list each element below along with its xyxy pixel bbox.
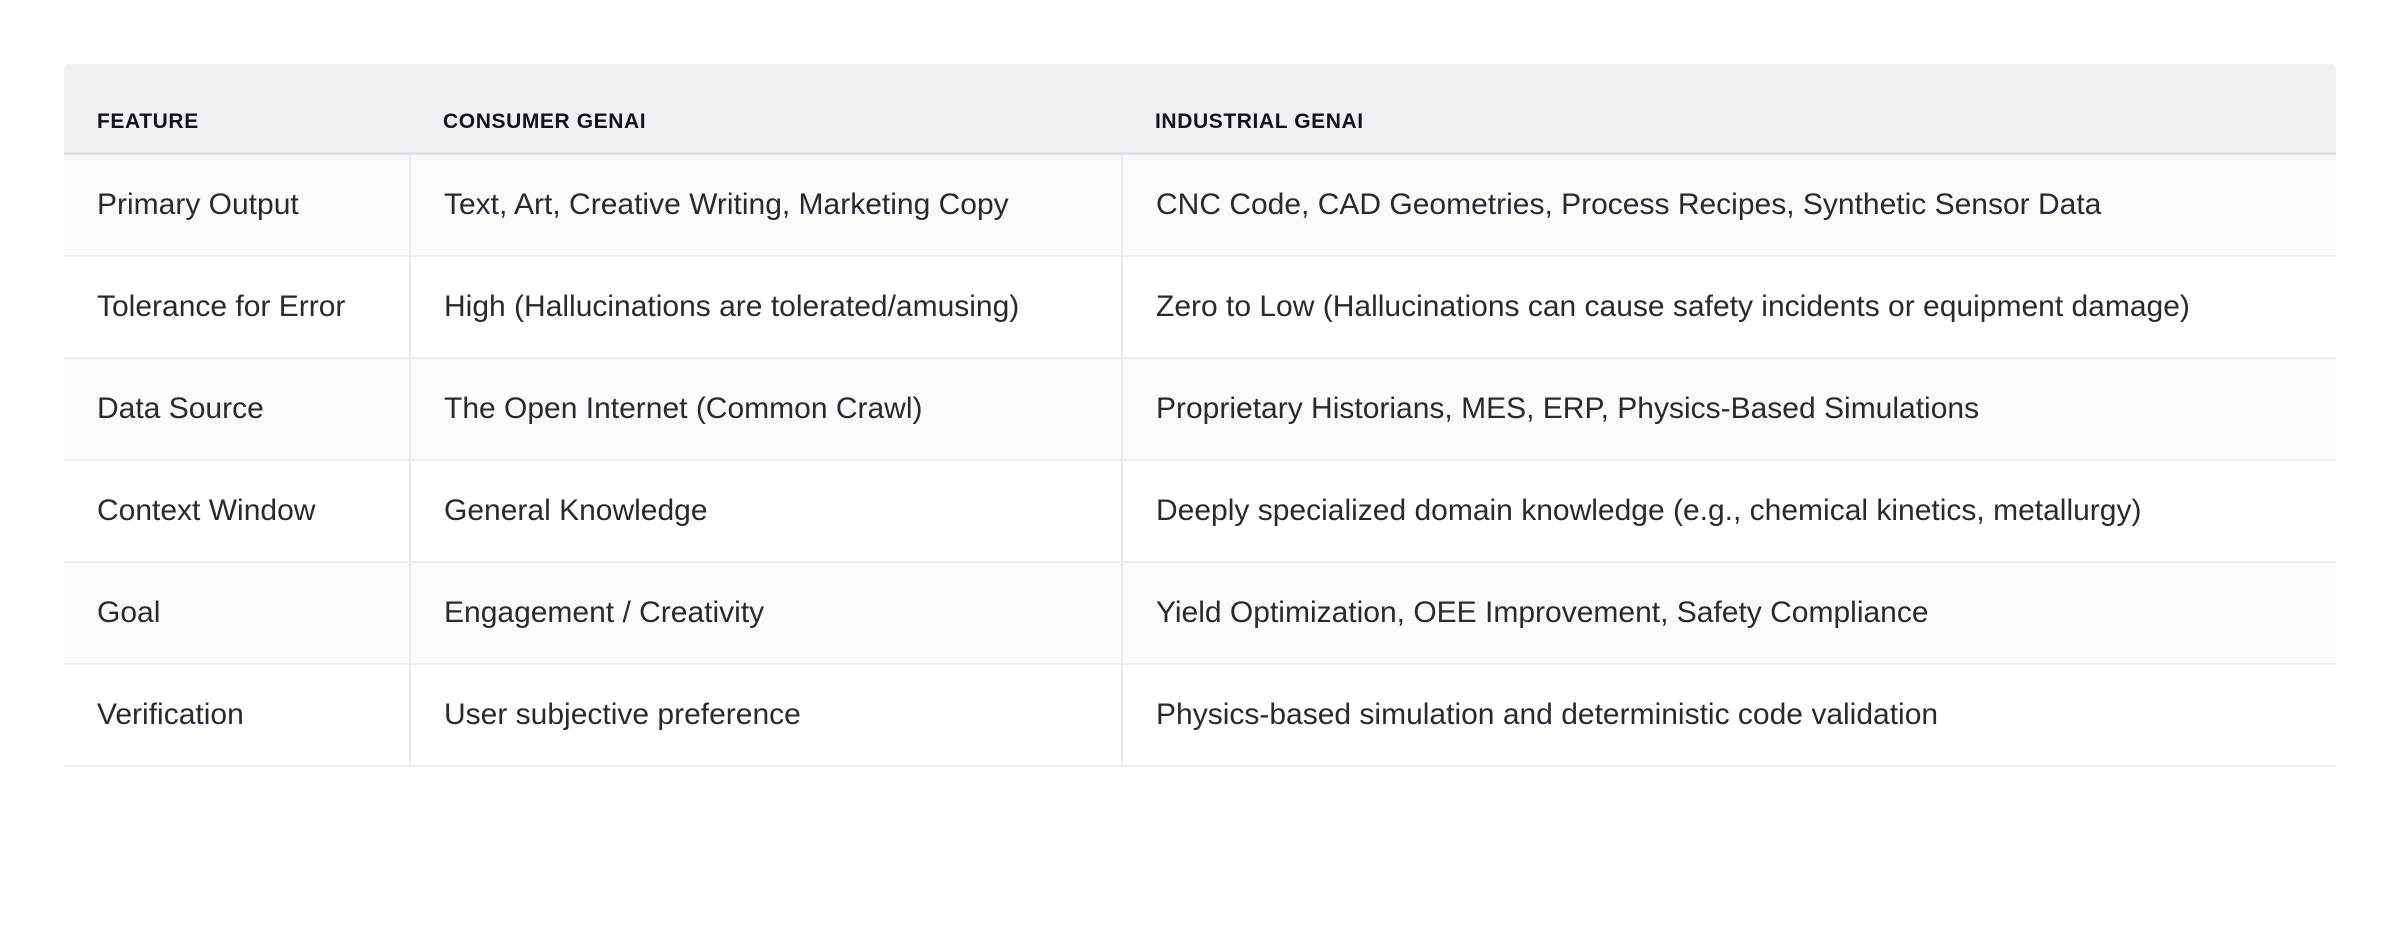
page-root: FEATURE CONSUMER GENAI INDUSTRIAL GENAI … (0, 0, 2400, 940)
column-header-feature[interactable]: FEATURE (64, 64, 410, 153)
cell-industrial: Yield Optimization, OEE Improvement, Saf… (1122, 562, 2336, 664)
cell-industrial: Deeply specialized domain knowledge (e.g… (1122, 460, 2336, 562)
cell-feature: Verification (64, 664, 410, 766)
table-row: Tolerance for Error High (Hallucinations… (64, 256, 2336, 358)
cell-industrial: Proprietary Historians, MES, ERP, Physic… (1122, 358, 2336, 460)
cell-consumer: High (Hallucinations are tolerated/amusi… (410, 256, 1122, 358)
cell-consumer: User subjective preference (410, 664, 1122, 766)
cell-feature: Data Source (64, 358, 410, 460)
comparison-table-container: FEATURE CONSUMER GENAI INDUSTRIAL GENAI … (64, 64, 2336, 767)
cell-industrial: Physics-based simulation and determinist… (1122, 664, 2336, 766)
cell-consumer: General Knowledge (410, 460, 1122, 562)
cell-feature: Primary Output (64, 153, 410, 256)
cell-consumer: Engagement / Creativity (410, 562, 1122, 664)
table-row: Verification User subjective preference … (64, 664, 2336, 766)
cell-feature: Goal (64, 562, 410, 664)
cell-feature: Context Window (64, 460, 410, 562)
table-header-row: FEATURE CONSUMER GENAI INDUSTRIAL GENAI (64, 64, 2336, 153)
cell-consumer: Text, Art, Creative Writing, Marketing C… (410, 153, 1122, 256)
table-row: Primary Output Text, Art, Creative Writi… (64, 153, 2336, 256)
cell-feature: Tolerance for Error (64, 256, 410, 358)
table-row: Goal Engagement / Creativity Yield Optim… (64, 562, 2336, 664)
cell-industrial: CNC Code, CAD Geometries, Process Recipe… (1122, 153, 2336, 256)
table-header: FEATURE CONSUMER GENAI INDUSTRIAL GENAI (64, 64, 2336, 153)
cell-industrial: Zero to Low (Hallucinations can cause sa… (1122, 256, 2336, 358)
table-row: Data Source The Open Internet (Common Cr… (64, 358, 2336, 460)
comparison-table: FEATURE CONSUMER GENAI INDUSTRIAL GENAI … (64, 64, 2336, 767)
column-header-industrial-genai[interactable]: INDUSTRIAL GENAI (1122, 64, 2336, 153)
table-body: Primary Output Text, Art, Creative Writi… (64, 153, 2336, 766)
column-header-consumer-genai[interactable]: CONSUMER GENAI (410, 64, 1122, 153)
cell-consumer: The Open Internet (Common Crawl) (410, 358, 1122, 460)
table-row: Context Window General Knowledge Deeply … (64, 460, 2336, 562)
